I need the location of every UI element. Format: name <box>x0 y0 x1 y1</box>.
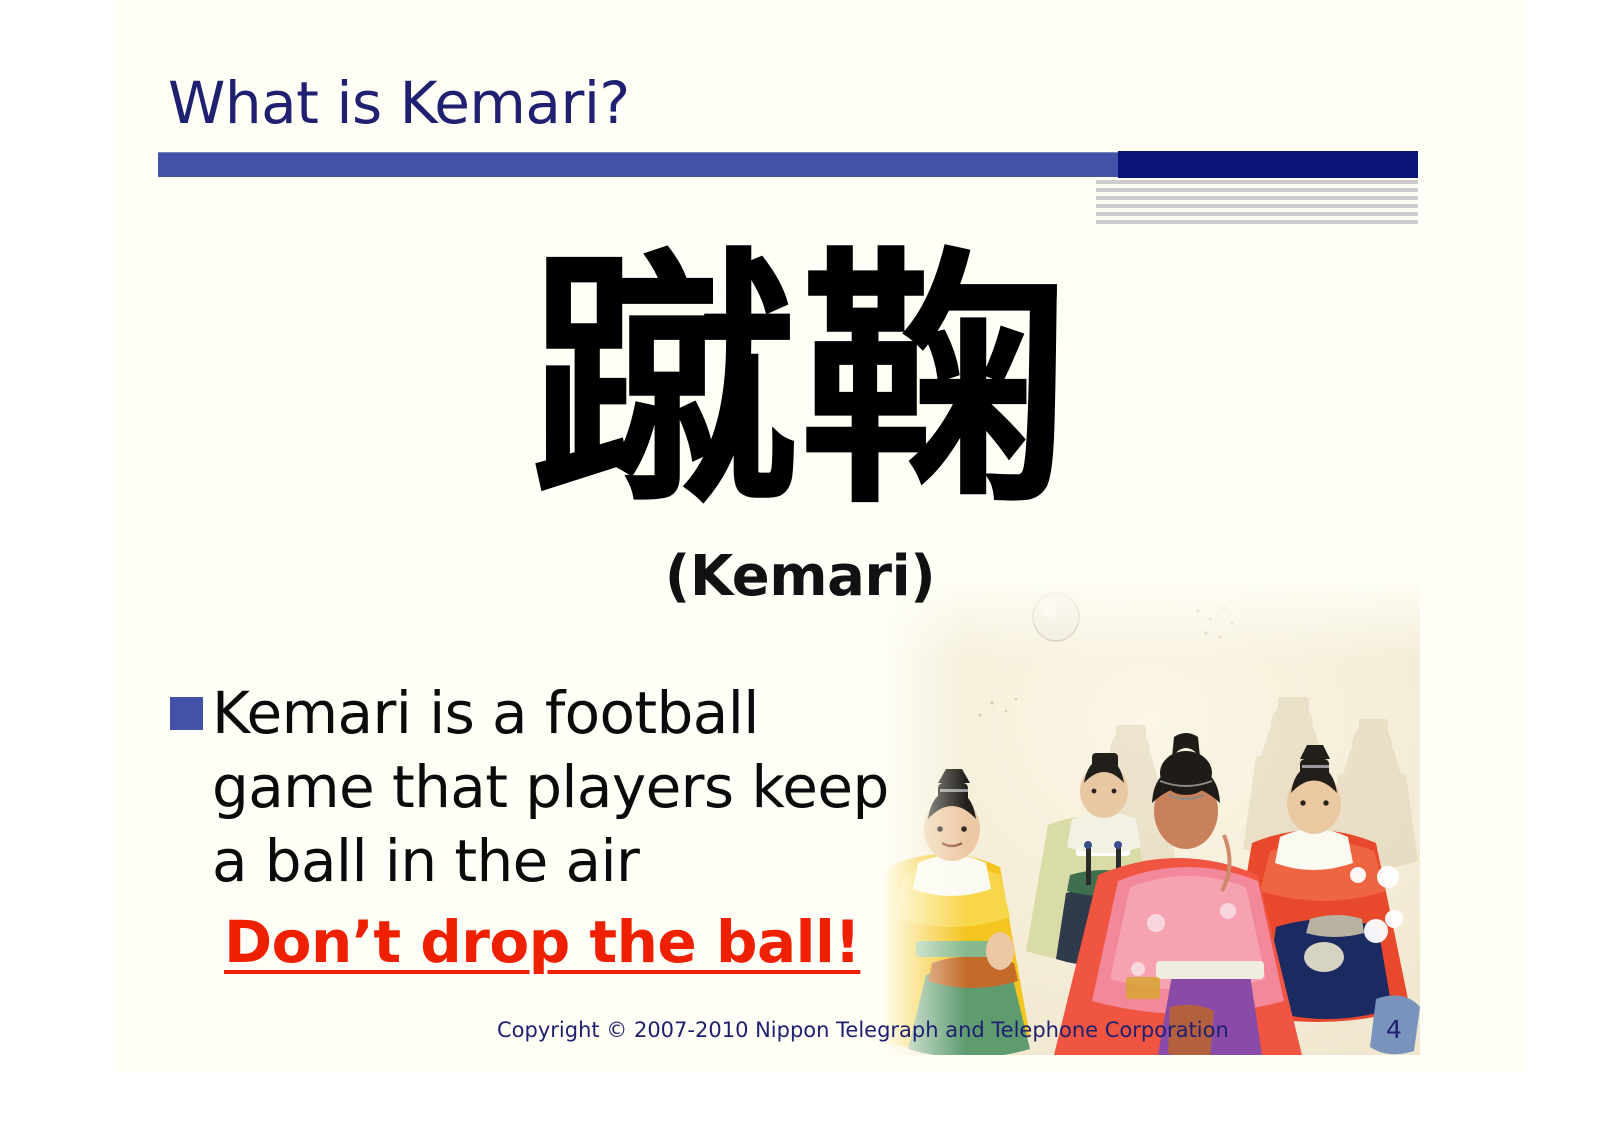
header-rule-lines <box>1096 180 1418 228</box>
header-rule-line <box>1096 180 1418 184</box>
header-rule-line <box>1096 212 1418 216</box>
kemari-players-photograph <box>880 575 1420 1055</box>
header-rule-line <box>1096 196 1418 200</box>
header-rule-line <box>1096 204 1418 208</box>
header-bar-left <box>158 152 1118 177</box>
bullet-list-item: Kemari is a football game that players k… <box>170 676 930 899</box>
kemari-kanji-heading: 蹴鞠 <box>0 248 1600 518</box>
header-rule-line <box>1096 220 1418 224</box>
header-bar-right <box>1118 151 1418 178</box>
page-title: What is Kemari? <box>168 74 630 132</box>
copyright-notice: Copyright © 2007-2010 Nippon Telegraph a… <box>497 1018 1229 1042</box>
bullet-item-label: Kemari is a football game that players k… <box>212 676 930 899</box>
header-rule-line <box>1096 188 1418 192</box>
kemari-romaji-label: (Kemari) <box>0 544 1600 609</box>
page-number: 4 <box>1386 1015 1402 1044</box>
slide: What is Kemari? 蹴鞠 (Kemari) Kemari is a … <box>0 0 1600 1131</box>
emphasis-callout: Don’t drop the ball! <box>224 908 860 976</box>
square-bullet-icon <box>170 697 203 730</box>
